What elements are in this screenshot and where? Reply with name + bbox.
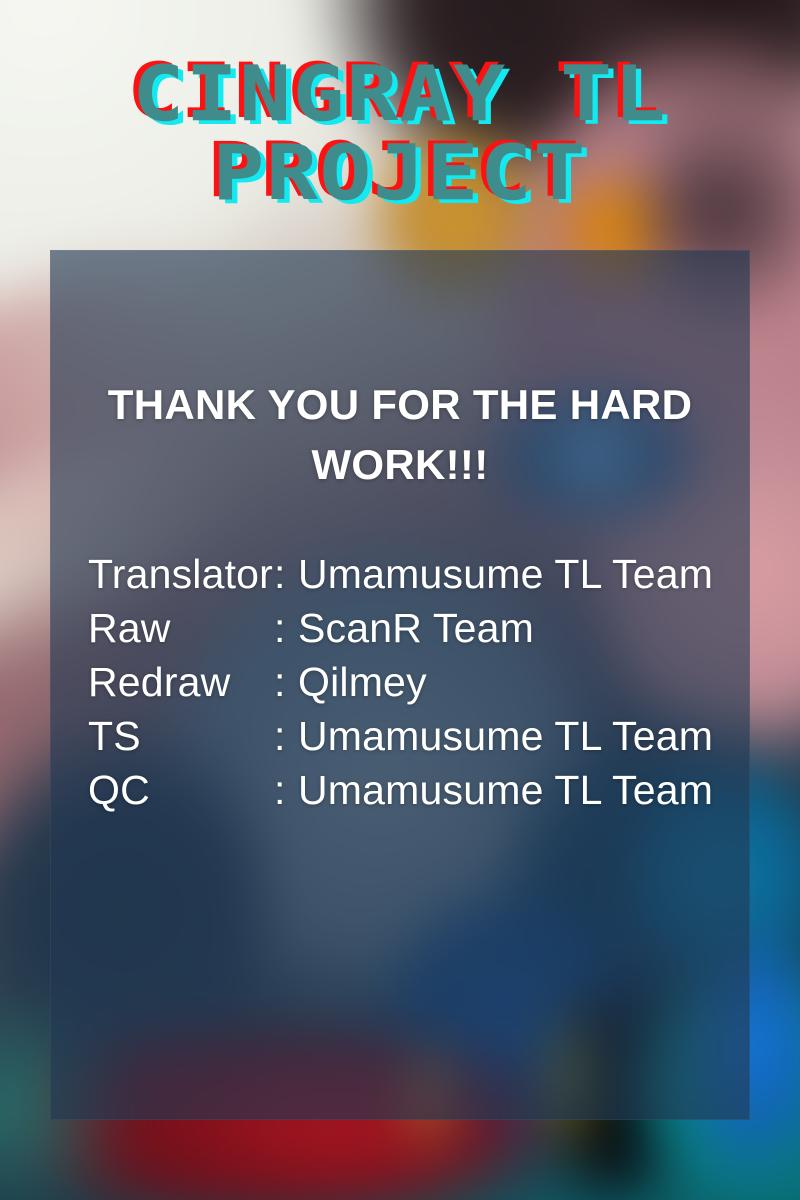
credit-name-value: Umamusume TL Team: [298, 713, 713, 760]
credit-separator: :: [274, 605, 298, 652]
credit-role-label: Raw: [88, 605, 274, 652]
credit-row: Translator : Umamusume TL Team: [88, 551, 728, 605]
credit-separator: :: [274, 713, 298, 760]
credit-row: QC : Umamusume TL Team: [88, 767, 728, 821]
credit-name-value: Umamusume TL Team: [298, 767, 713, 814]
credit-separator: :: [274, 767, 298, 814]
credit-name-value: Qilmey: [298, 659, 427, 706]
credit-row: TS : Umamusume TL Team: [88, 713, 728, 767]
credits-list: Translator : Umamusume TL Team Raw : Sca…: [88, 551, 728, 821]
credit-role-label: TS: [88, 713, 274, 760]
credit-row: Raw : ScanR Team: [88, 605, 728, 659]
credit-name-value: Umamusume TL Team: [298, 551, 713, 598]
credit-role-label: QC: [88, 767, 274, 814]
credit-role-label: Redraw: [88, 659, 274, 706]
credit-row: Redraw : Qilmey: [88, 659, 728, 713]
credit-role-label: Translator: [88, 551, 274, 598]
credit-separator: :: [274, 659, 298, 706]
credits-page: CINGRAY TL PROJECT THANK YOU FOR THE HAR…: [0, 0, 800, 1200]
thank-you-headline: THANK YOU FOR THE HARD WORK!!!: [70, 375, 730, 494]
credit-separator: :: [274, 551, 298, 598]
credit-name-value: ScanR Team: [298, 605, 534, 652]
